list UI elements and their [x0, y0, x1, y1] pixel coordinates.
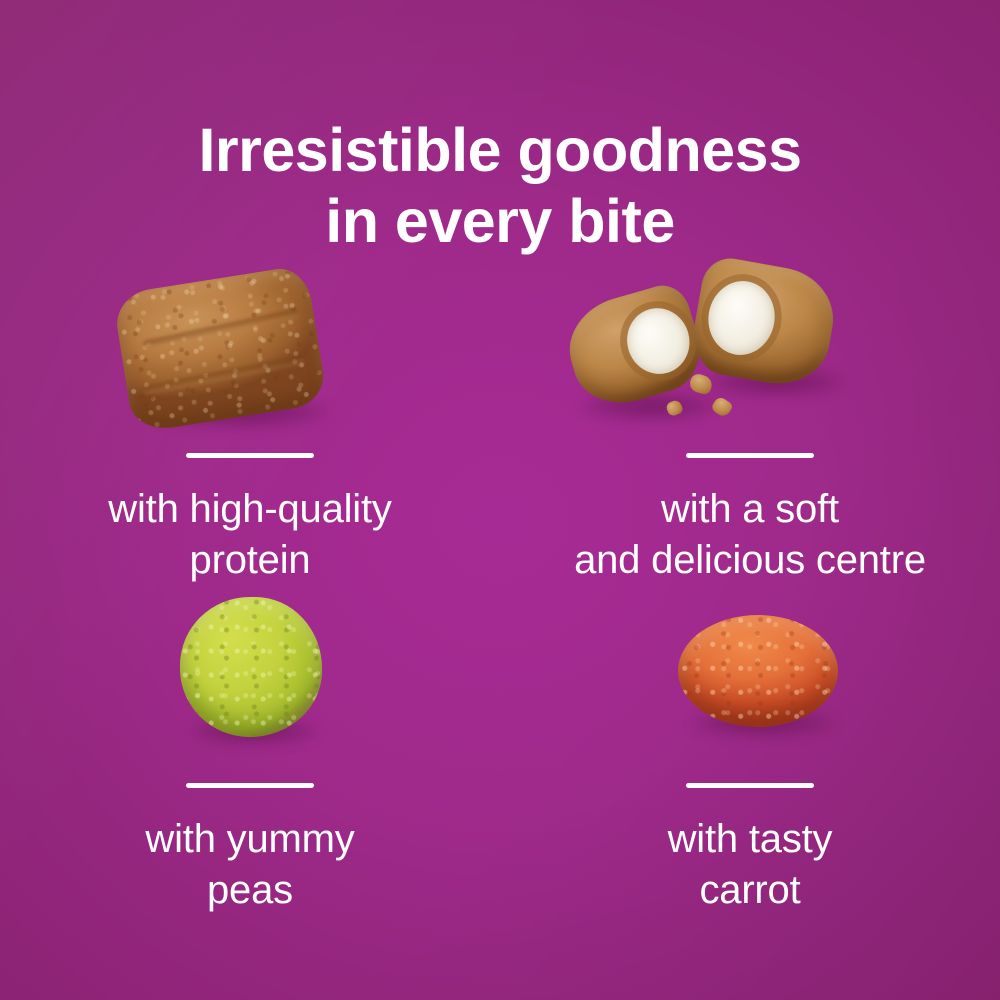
caption-divider	[186, 453, 314, 458]
feature-caption: with yummy peas	[0, 814, 500, 916]
feature-item-protein: with high-quality protein	[0, 255, 500, 586]
feature-caption: with tasty carrot	[500, 814, 1000, 916]
carrot-kibble-image	[500, 585, 1000, 770]
feature-caption: with a soft and delicious centre	[500, 484, 1000, 586]
caption-line-2: carrot	[500, 865, 1000, 916]
caption-divider	[186, 783, 314, 788]
biscuit-treat-image	[0, 255, 500, 440]
headline-line-2: in every bite	[0, 186, 1000, 257]
caption-line-1: with yummy	[0, 814, 500, 865]
carrot-texture	[678, 615, 838, 727]
creamy-centre	[703, 276, 781, 360]
promo-banner: Irresistible goodness in every bite with…	[0, 0, 1000, 1000]
feature-grid: with high-quality protein with	[0, 255, 1000, 955]
pea-texture	[180, 597, 322, 737]
pea-kibble-image	[0, 585, 500, 770]
feature-item-centre: with a soft and delicious centre	[500, 255, 1000, 586]
headline-line-1: Irresistible goodness	[198, 116, 801, 184]
feature-caption: with high-quality protein	[0, 484, 500, 586]
carrot-icon	[678, 615, 838, 727]
caption-line-1: with high-quality	[0, 484, 500, 535]
caption-divider	[686, 783, 814, 788]
feature-item-peas: with yummy peas	[0, 585, 500, 916]
caption-line-2: and delicious centre	[500, 535, 1000, 586]
pea-icon	[180, 597, 322, 737]
creamy-centre	[619, 301, 697, 382]
caption-line-2: protein	[0, 535, 500, 586]
caption-line-1: with tasty	[500, 814, 1000, 865]
caption-line-1: with a soft	[500, 484, 1000, 535]
caption-divider	[686, 453, 814, 458]
caption-line-2: peas	[0, 865, 500, 916]
split-treat-image	[500, 255, 1000, 440]
page-title: Irresistible goodness in every bite	[0, 115, 1000, 257]
feature-item-carrot: with tasty carrot	[500, 585, 1000, 916]
